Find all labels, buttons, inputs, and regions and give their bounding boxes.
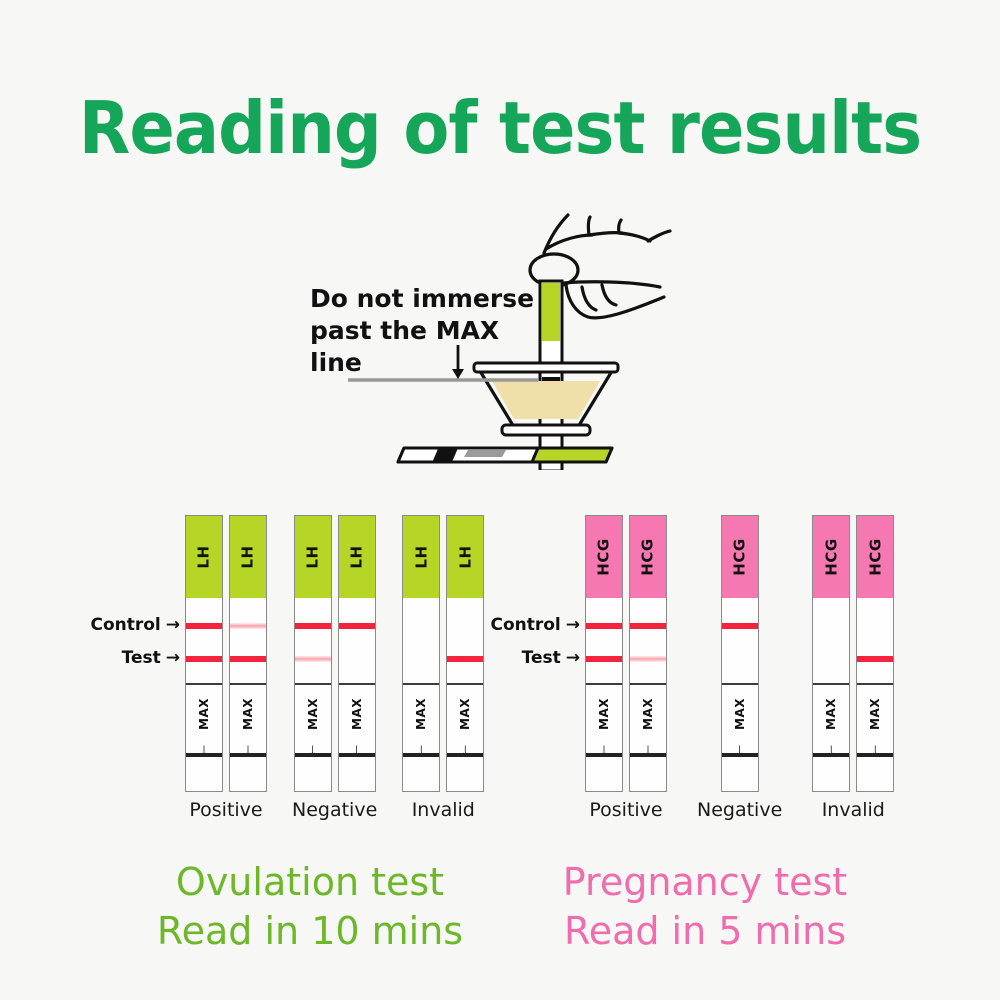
strip-cap: HCG (813, 516, 849, 598)
max-line-marker (295, 753, 331, 757)
held-test-strip (540, 281, 562, 470)
label-test-pregnancy: Test→ (465, 648, 580, 668)
strip-row: HCGMAX↓HCGMAX↓ (812, 515, 894, 792)
max-zone: MAX↓ (403, 685, 439, 750)
max-zone: MAX↓ (447, 685, 483, 750)
footer-ovulation-line-2: Read in 10 mins (95, 907, 525, 956)
label-test-text: Test (522, 648, 561, 668)
result-caption: Positive (189, 799, 262, 821)
test-strip: HCGMAX↓ (629, 515, 667, 792)
max-line-marker (586, 753, 622, 757)
notice-line-1: Do not immerse (310, 283, 540, 315)
result-caption: Negative (292, 799, 377, 821)
max-line-marker (186, 753, 222, 757)
max-zone: MAX↓ (586, 685, 622, 750)
analyte-label: HCG (639, 538, 657, 575)
label-control-text: Control (90, 615, 160, 635)
max-zone: MAX↓ (295, 685, 331, 750)
test-line (586, 656, 622, 662)
strip-groups-pregnancy: HCGMAX↓HCGMAX↓PositiveHCGMAX↓NegativeHCG… (585, 515, 894, 821)
arrow-right-icon: → (166, 648, 180, 668)
test-line (630, 656, 666, 662)
strip-cap: LH (339, 516, 375, 598)
analyte-label: HCG (866, 538, 884, 575)
poster-root: Reading of test results (0, 0, 1000, 1000)
arrow-right-icon: → (566, 648, 580, 668)
flat-test-strip (398, 448, 612, 462)
max-line-marker (230, 753, 266, 757)
test-strip: LHMAX↓ (294, 515, 332, 792)
arrow-right-icon: → (166, 615, 180, 635)
label-test-ovulation: Test→ (55, 648, 180, 668)
footer-pregnancy: Pregnancy test Read in 5 mins (490, 858, 920, 955)
max-label: MAX (824, 698, 838, 730)
arrow-right-icon: → (566, 615, 580, 635)
strip-cap: HCG (722, 516, 758, 598)
strip-cap: LH (230, 516, 266, 598)
test-line (230, 656, 266, 662)
max-zone: MAX↓ (186, 685, 222, 750)
label-control-text: Control (490, 615, 560, 635)
strip-row: LHMAX↓LHMAX↓ (185, 515, 267, 792)
analyte-label: LH (239, 545, 257, 568)
max-zone: MAX↓ (230, 685, 266, 750)
result-caption: Invalid (412, 799, 475, 821)
strip-cap: LH (403, 516, 439, 598)
result-group-invalid: LHMAX↓LHMAX↓Invalid (402, 515, 484, 821)
max-line-marker (403, 753, 439, 757)
footer-ovulation: Ovulation test Read in 10 mins (95, 858, 525, 955)
control-line (186, 623, 222, 629)
max-label: MAX (197, 698, 211, 730)
strip-cap: HCG (586, 516, 622, 598)
page-title: Reading of test results (35, 86, 965, 170)
test-strip: LHMAX↓ (402, 515, 440, 792)
test-strip: HCGMAX↓ (812, 515, 850, 792)
test-strip: HCGMAX↓ (721, 515, 759, 792)
max-label: MAX (458, 698, 472, 730)
footer-pregnancy-line-2: Read in 5 mins (490, 907, 920, 956)
result-group-invalid: HCGMAX↓HCGMAX↓Invalid (812, 515, 894, 821)
control-line (230, 623, 266, 629)
result-group-positive: LHMAX↓LHMAX↓Positive (185, 515, 267, 821)
strip-cap: LH (447, 516, 483, 598)
max-label: MAX (868, 698, 882, 730)
max-zone: MAX↓ (339, 685, 375, 750)
result-caption: Positive (589, 799, 662, 821)
control-line (339, 623, 375, 629)
max-line-marker (857, 753, 893, 757)
strip-cap: LH (295, 516, 331, 598)
analyte-label: HCG (822, 538, 840, 575)
max-line-marker (630, 753, 666, 757)
result-group-positive: HCGMAX↓HCGMAX↓Positive (585, 515, 667, 821)
immersion-notice: Do not immerse past the MAX line (310, 283, 540, 379)
max-label: MAX (733, 698, 747, 730)
result-caption: Invalid (822, 799, 885, 821)
test-strip: HCGMAX↓ (585, 515, 623, 792)
control-line (295, 623, 331, 629)
strip-cap: HCG (857, 516, 893, 598)
max-line-marker (339, 753, 375, 757)
footer-ovulation-line-1: Ovulation test (95, 858, 525, 907)
max-label: MAX (350, 698, 364, 730)
result-group-negative: LHMAX↓LHMAX↓Negative (292, 515, 377, 821)
strip-row: LHMAX↓LHMAX↓ (294, 515, 376, 792)
result-group-negative: HCGMAX↓Negative (697, 515, 782, 821)
max-zone: MAX↓ (857, 685, 893, 750)
analyte-label: HCG (731, 538, 749, 575)
test-strip: HCGMAX↓ (856, 515, 894, 792)
test-strip: LHMAX↓ (185, 515, 223, 792)
max-line-marker (447, 753, 483, 757)
test-line (295, 656, 331, 662)
control-line (586, 623, 622, 629)
control-line (630, 623, 666, 629)
label-control-pregnancy: Control→ (465, 615, 580, 635)
analyte-label: LH (456, 545, 474, 568)
test-strip: LHMAX↓ (338, 515, 376, 792)
max-label: MAX (241, 698, 255, 730)
analyte-label: LH (195, 545, 213, 568)
max-label: MAX (641, 698, 655, 730)
analyte-label: LH (304, 545, 322, 568)
max-label: MAX (414, 698, 428, 730)
analyte-label: LH (412, 545, 430, 568)
notice-line-2: past the MAX line (310, 315, 540, 379)
result-caption: Negative (697, 799, 782, 821)
max-zone: MAX↓ (813, 685, 849, 750)
strip-groups-ovulation: LHMAX↓LHMAX↓PositiveLHMAX↓LHMAX↓Negative… (185, 515, 484, 821)
max-line-marker (813, 753, 849, 757)
strip-row: HCGMAX↓HCGMAX↓ (585, 515, 667, 792)
label-control-ovulation: Control→ (55, 615, 180, 635)
analyte-label: HCG (595, 538, 613, 575)
control-line (722, 623, 758, 629)
max-zone: MAX↓ (722, 685, 758, 750)
max-zone: MAX↓ (630, 685, 666, 750)
max-label: MAX (597, 698, 611, 730)
max-line-marker (722, 753, 758, 757)
analyte-label: LH (348, 545, 366, 568)
label-test-text: Test (122, 648, 161, 668)
strip-row: HCGMAX↓ (721, 515, 759, 792)
test-line (857, 656, 893, 662)
test-strip: LHMAX↓ (229, 515, 267, 792)
test-line (186, 656, 222, 662)
max-label: MAX (306, 698, 320, 730)
strip-cap: HCG (630, 516, 666, 598)
strip-cap: LH (186, 516, 222, 598)
footer-pregnancy-line-1: Pregnancy test (490, 858, 920, 907)
